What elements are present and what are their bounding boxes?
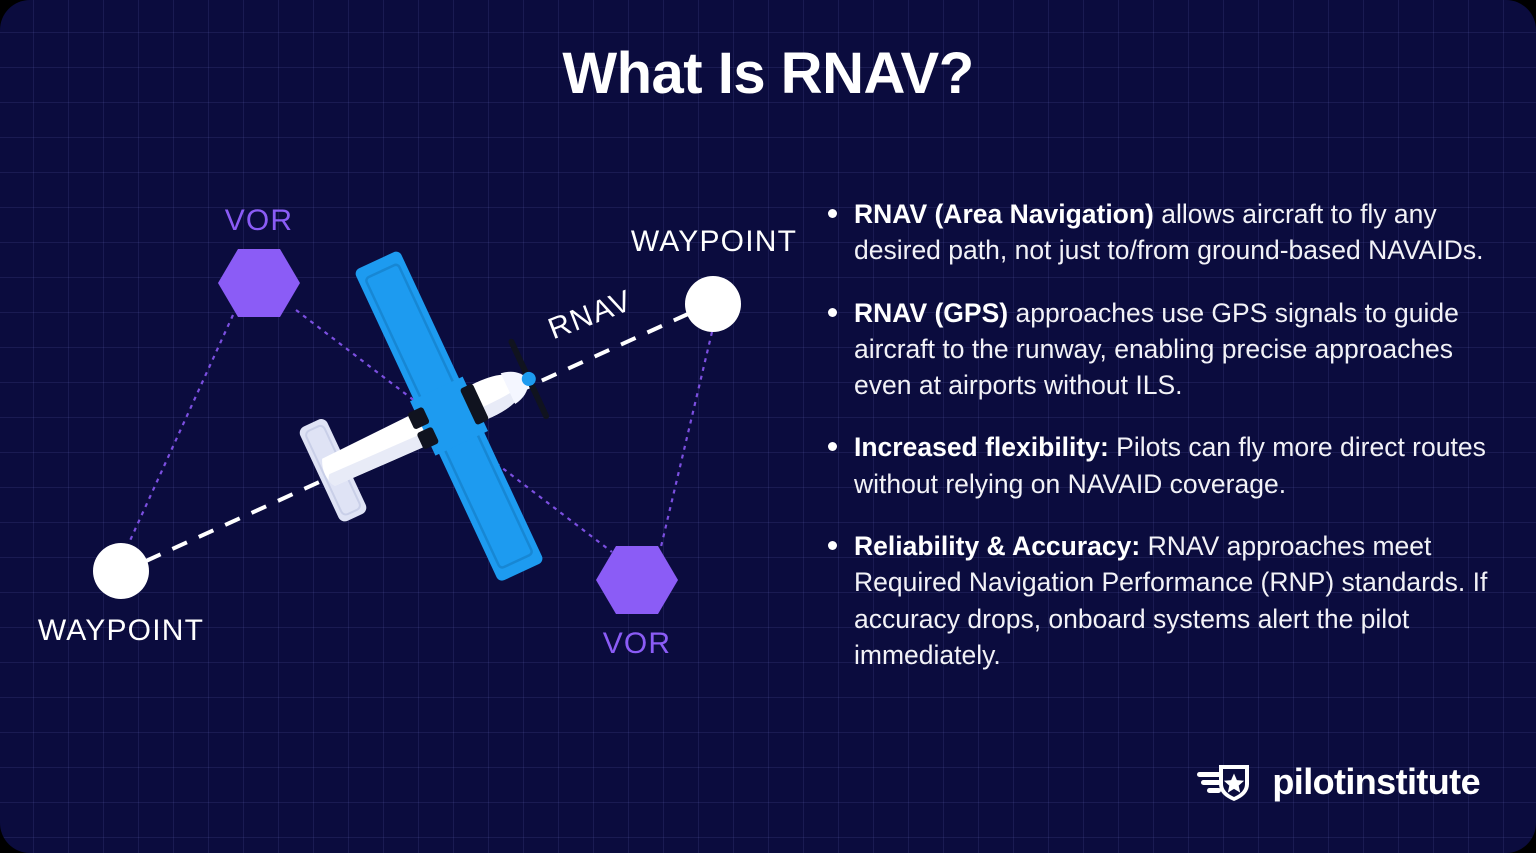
bullet-lead: RNAV (Area Navigation) xyxy=(854,199,1154,229)
infographic-card: What Is RNAV? xyxy=(0,0,1536,853)
node-label-vor-top-left: VOR xyxy=(225,204,294,238)
list-item: RNAV (Area Navigation) allows aircraft t… xyxy=(826,196,1498,269)
bullet-dot-icon xyxy=(828,442,837,451)
bullet-dot-icon xyxy=(828,209,837,218)
node-vor-bottom-right[interactable] xyxy=(596,546,678,614)
node-label-waypoint-top-right: WAYPOINT xyxy=(631,225,797,259)
bullet-lead: Reliability & Accuracy: xyxy=(854,531,1140,561)
brand-name: pilotinstitute xyxy=(1272,764,1480,800)
key-points-list: RNAV (Area Navigation) allows aircraft t… xyxy=(826,196,1498,673)
bullet-lead: Increased flexibility: xyxy=(854,432,1109,462)
link-vor-top-to-waypoint-bottom-left xyxy=(128,315,233,545)
node-vor-top-left[interactable] xyxy=(218,249,300,317)
bullet-lead: RNAV (GPS) xyxy=(854,298,1008,328)
link-waypoint-top-right-to-vor-bottom xyxy=(660,332,712,551)
list-item: Increased flexibility: Pilots can fly mo… xyxy=(826,429,1498,502)
brand-logo: pilotinstitute xyxy=(1197,761,1480,803)
node-label-vor-bottom-right: VOR xyxy=(603,627,672,661)
list-item: RNAV (GPS) approaches use GPS signals to… xyxy=(826,295,1498,404)
node-waypoint-top-right[interactable] xyxy=(685,276,741,332)
rnav-route-diagram: VOR WAYPOINT WAYPOINT VOR RNAV xyxy=(0,0,820,760)
node-label-waypoint-bottom-left: WAYPOINT xyxy=(38,614,204,648)
bullet-dot-icon xyxy=(828,308,837,317)
node-waypoint-bottom-left[interactable] xyxy=(93,543,149,599)
winged-shield-star-icon xyxy=(1197,761,1259,803)
aircraft-icon xyxy=(247,220,608,632)
bullet-dot-icon xyxy=(828,541,837,550)
list-item: Reliability & Accuracy: RNAV approaches … xyxy=(826,528,1498,673)
